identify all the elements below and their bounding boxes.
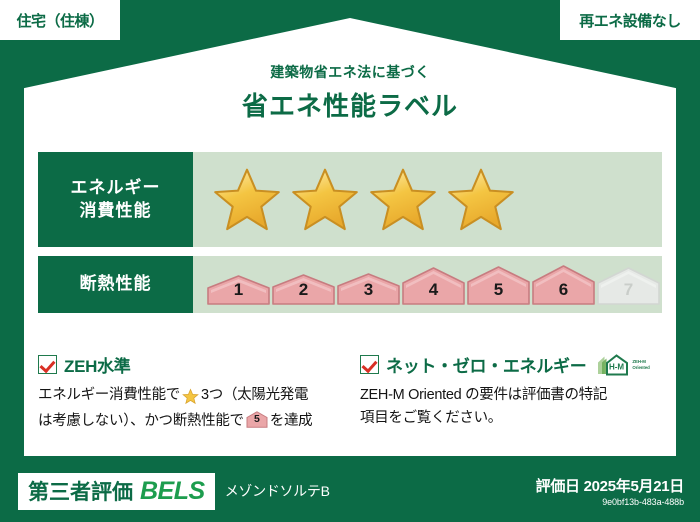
zeh-m-house-icon: H-M (596, 353, 630, 377)
row-energy-consumption: エネルギー 消費性能 (38, 152, 662, 247)
insulation-grade-number: 1 (207, 280, 270, 300)
page-title: 省エネ性能ラベル (0, 86, 700, 123)
insulation-grade-number: 4 (402, 280, 465, 300)
insulation-grade-scale: 1234567 (193, 265, 660, 305)
insulation-grade-badge: 3 (337, 273, 400, 305)
insulation-badge-inline-num: 5 (246, 411, 268, 428)
tag-building-type-label: 住宅（住棟） (16, 10, 103, 31)
insulation-grade-number: 7 (597, 280, 660, 300)
row-insulation: 断熱性能 1234567 (38, 256, 662, 313)
insulation-grade-number: 6 (532, 280, 595, 300)
note-zeh-body: エネルギー消費性能で3つ（太陽光発電は考慮しない）、かつ断熱性能で5を達成 (38, 384, 342, 434)
row-insulation-label: 断熱性能 (38, 256, 193, 313)
tag-renewable-energy-label: 再エネ設備なし (579, 10, 681, 31)
note-nze-header: ネット・ゼロ・エネルギー H-M ZEH-M Oriented (360, 352, 654, 377)
bels-en-label: BELS (140, 477, 205, 506)
star-icon (289, 165, 361, 235)
star-rating (193, 165, 517, 235)
check-icon (38, 355, 57, 374)
insulation-badge-inline: 5 (246, 411, 268, 428)
title-block: 建築物省エネ法に基づく 省エネ性能ラベル (0, 62, 700, 123)
building-name: メゾンドソルテB (225, 481, 330, 501)
evaluation-id: 9e0bf13b-483a-488b (536, 497, 684, 507)
star-icon-inline (181, 390, 200, 406)
zeh-m-caption-line1: ZEH-M (632, 359, 645, 364)
row-energy-label: エネルギー 消費性能 (38, 152, 193, 247)
footer-meta: 評価日 2025年5月21日 9e0bf13b-483a-488b (536, 475, 684, 507)
row-energy-label-line1: エネルギー (71, 177, 161, 200)
check-icon (360, 355, 379, 374)
row-energy-value (193, 152, 662, 247)
note-nze-body: ZEH-M Oriented の要件は評価書の特記 項目をご覧ください。 (360, 384, 654, 431)
bels-badge: 第三者評価 BELS (18, 473, 215, 510)
svg-text:H-M: H-M (609, 362, 624, 371)
note-nze-body-line2: 項目をご覧ください。 (360, 410, 502, 426)
notes-section: ZEH水準 エネルギー消費性能で3つ（太陽光発電は考慮しない）、かつ断熱性能で5… (38, 352, 662, 434)
insulation-grade-badge: 4 (402, 267, 465, 305)
note-zeh-body-part1: エネルギー消費性能で (38, 387, 180, 403)
row-energy-label-line2: 消費性能 (80, 200, 152, 223)
insulation-grade-badge: 5 (467, 266, 530, 305)
energy-performance-label: 住宅（住棟） 再エネ設備なし 建築物省エネ法に基づく 省エネ性能ラベル エネルギ… (0, 0, 700, 522)
note-zeh-body-part2: は考慮しない）、かつ断熱性能で (38, 413, 244, 429)
performance-rows: エネルギー 消費性能 断熱性能 1234567 (38, 152, 662, 322)
insulation-grade-number: 3 (337, 280, 400, 300)
zeh-m-oriented-logo: H-M ZEH-M Oriented (596, 353, 649, 377)
tag-renewable-energy: 再エネ設備なし (560, 0, 700, 40)
label-subtitle: 建築物省エネ法に基づく (0, 62, 700, 82)
note-zeh-standard: ZEH水準 エネルギー消費性能で3つ（太陽光発電は考慮しない）、かつ断熱性能で5… (38, 352, 350, 434)
star-icon (367, 165, 439, 235)
bels-jp-label: 第三者評価 (28, 476, 133, 506)
note-zeh-header: ZEH水準 (38, 352, 342, 377)
note-zeh-body-part3: を達成 (270, 413, 313, 429)
note-zeh-body-stars: 3つ（太陽光発電 (201, 387, 308, 403)
insulation-grade-badge: 6 (532, 265, 595, 305)
zeh-m-caption: ZEH-M Oriented (632, 359, 649, 370)
tag-building-type: 住宅（住棟） (0, 0, 120, 40)
footer-bar: 第三者評価 BELS メゾンドソルテB 評価日 2025年5月21日 9e0bf… (0, 460, 700, 522)
row-insulation-value: 1234567 (193, 256, 662, 313)
row-insulation-label-line1: 断熱性能 (80, 273, 152, 296)
note-nze-body-line1: ZEH-M Oriented の要件は評価書の特記 (360, 387, 607, 403)
note-nze-title: ネット・ゼロ・エネルギー (386, 352, 586, 377)
star-icon (445, 165, 517, 235)
star-icon (211, 165, 283, 235)
evaluation-date: 評価日 2025年5月21日 (536, 475, 684, 496)
insulation-grade-number: 2 (272, 280, 335, 300)
note-zeh-title: ZEH水準 (64, 352, 131, 377)
insulation-grade-badge: 1 (207, 275, 270, 305)
insulation-grade-badge: 7 (597, 267, 660, 305)
note-net-zero-energy: ネット・ゼロ・エネルギー H-M ZEH-M Oriented ZEH-M Or… (350, 352, 662, 434)
insulation-grade-badge: 2 (272, 274, 335, 305)
zeh-m-caption-line2: Oriented (632, 365, 649, 370)
insulation-grade-number: 5 (467, 280, 530, 300)
